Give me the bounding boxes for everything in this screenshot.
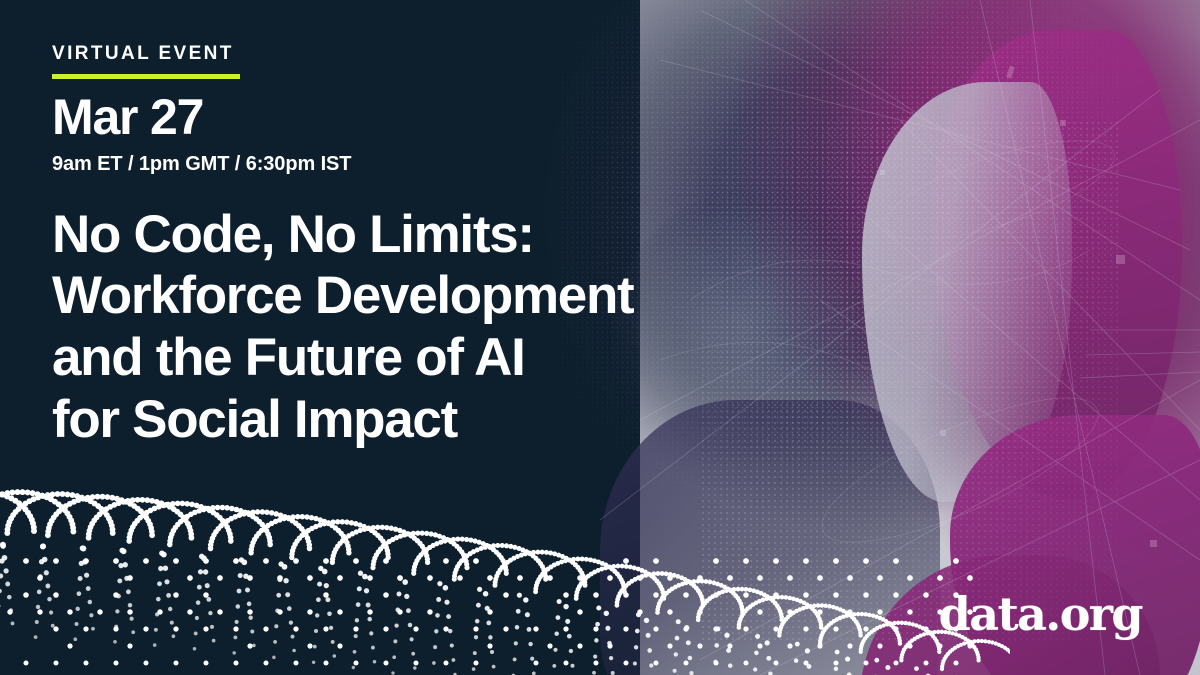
page-title-line-2: Workforce Development — [52, 265, 852, 327]
page-title-line-3: and the Future of AI — [52, 327, 852, 389]
dataorg-logo[interactable]: data.org — [939, 591, 1142, 637]
page-title: No Code, No Limits: Workforce Developmen… — [52, 204, 852, 451]
page-title-line-1: No Code, No Limits: — [52, 204, 852, 266]
content-block: VIRTUAL EVENT Mar 27 9am ET / 1pm GMT / … — [52, 44, 912, 450]
page-title-line-4: for Social Impact — [52, 389, 852, 451]
event-times: 9am ET / 1pm GMT / 6:30pm IST — [52, 153, 912, 176]
event-type-label: VIRTUAL EVENT — [52, 44, 912, 63]
event-date: Mar 27 — [52, 91, 912, 144]
dot-arc-decoration — [0, 465, 1010, 675]
accent-rule — [52, 74, 240, 79]
event-promo-banner: VIRTUAL EVENT Mar 27 9am ET / 1pm GMT / … — [0, 0, 1200, 675]
